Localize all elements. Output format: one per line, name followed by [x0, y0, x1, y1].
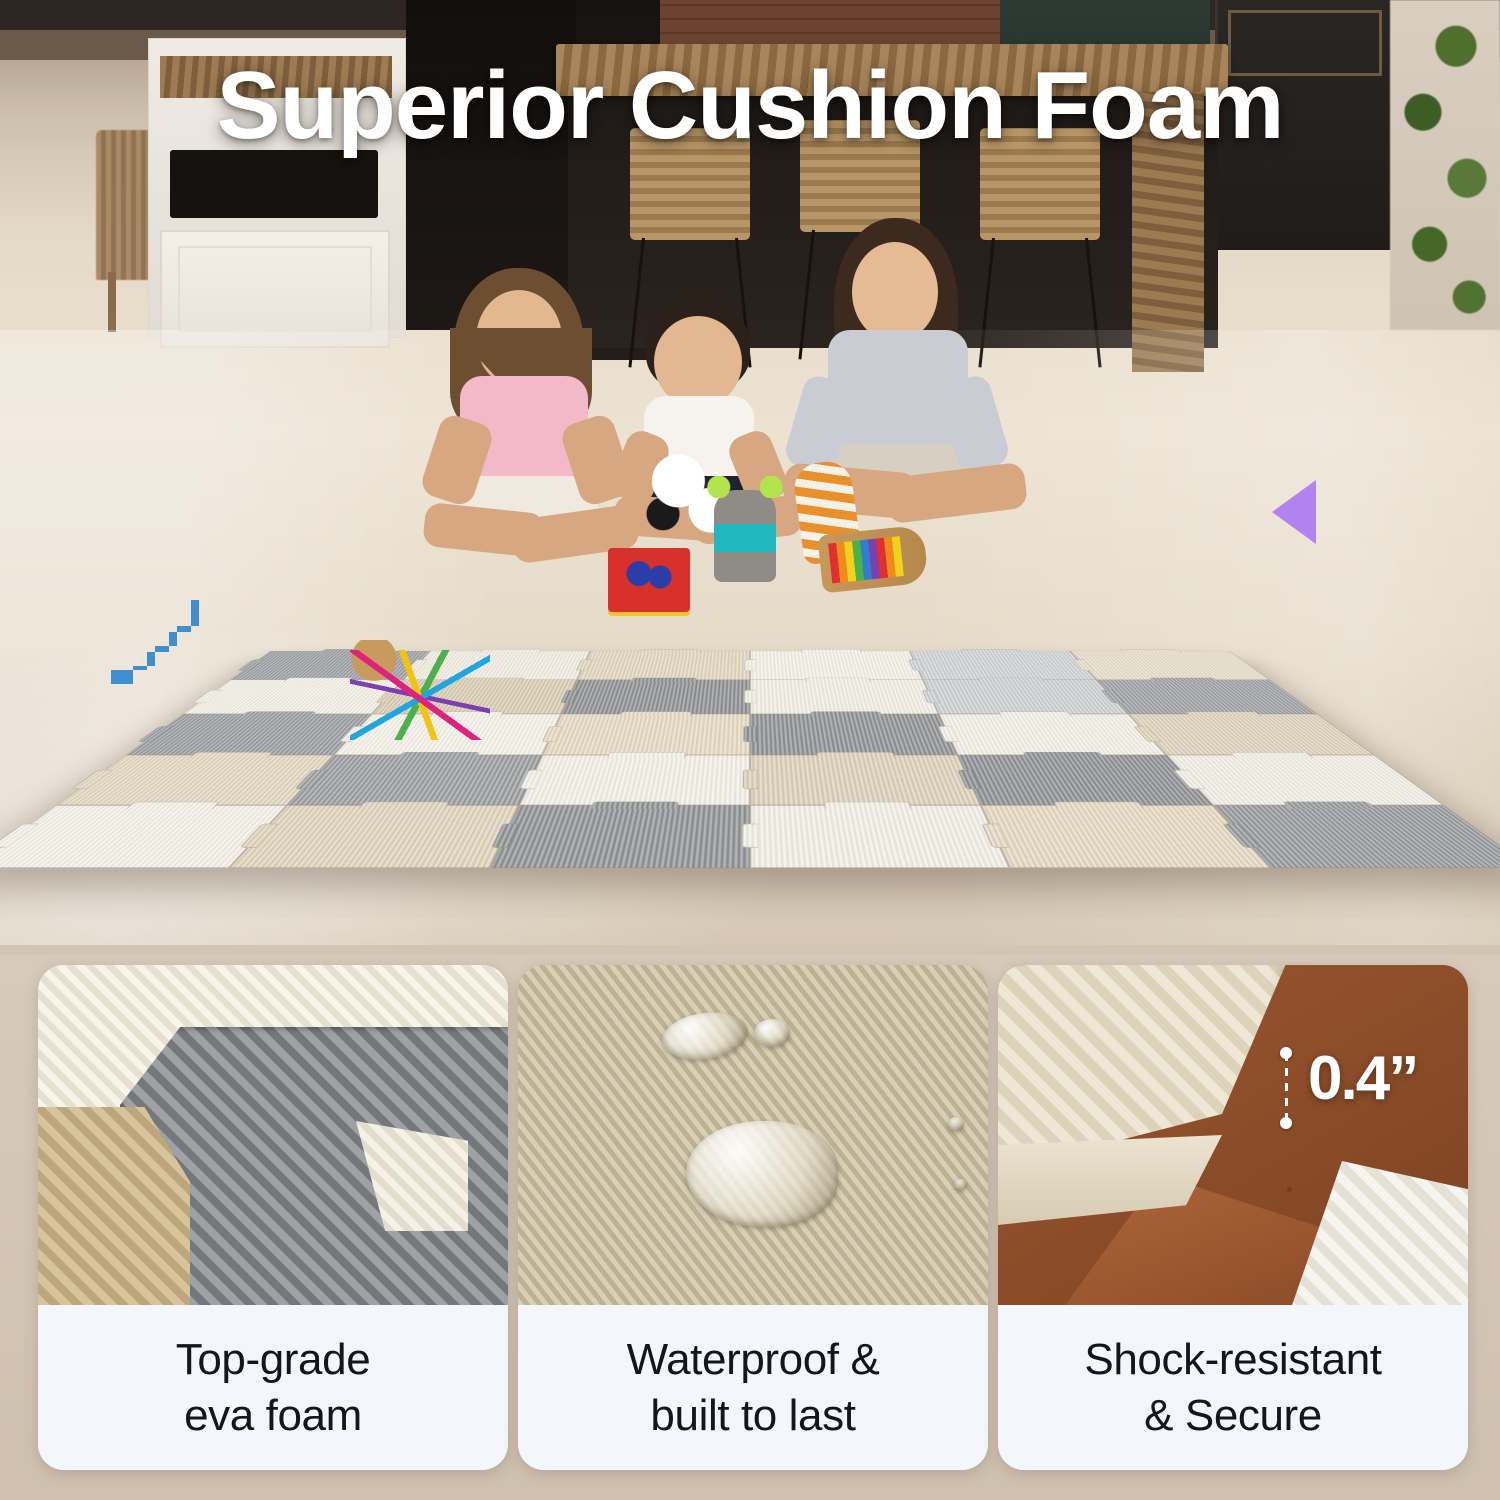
caption-line-1: Top-grade	[176, 1332, 371, 1387]
foam-tile	[1070, 651, 1270, 680]
product-infographic: Superior Cushion Foam Top-grade eva foam	[0, 0, 1500, 1500]
red-board-book	[608, 548, 690, 612]
feature-card-caption: Top-grade eva foam	[38, 1305, 508, 1470]
foam-tile	[750, 714, 958, 755]
caption-line-1: Waterproof &	[627, 1332, 880, 1387]
foam-tile	[750, 680, 939, 714]
caption-line-2: built to last	[650, 1388, 855, 1443]
foam-tile	[577, 651, 750, 680]
foam-tile	[750, 651, 923, 680]
foam-tile	[126, 714, 372, 755]
colorful-ribbon-toy	[350, 650, 490, 740]
caption-line-1: Shock-resistant	[1084, 1332, 1381, 1387]
foam-tile	[923, 680, 1128, 714]
foam-tile	[750, 805, 1010, 868]
hero-lifestyle-photo: Superior Cushion Foam	[0, 0, 1500, 945]
foam-tile	[750, 755, 981, 805]
feature-card-caption: Shock-resistant & Secure	[998, 1305, 1468, 1470]
foam-tile	[287, 755, 541, 805]
foam-tile	[1096, 680, 1317, 714]
foam-tile	[542, 714, 750, 755]
thickness-measure-line	[1280, 1047, 1292, 1129]
moose-rattle-toy	[714, 490, 776, 582]
feature-card-waterproof[interactable]: Waterproof & built to last	[518, 965, 988, 1470]
foam-tile	[490, 805, 750, 868]
foam-tile	[1166, 755, 1444, 805]
headline-title: Superior Cushion Foam	[0, 56, 1500, 156]
foam-tile	[939, 714, 1166, 755]
foam-tile	[1128, 714, 1374, 755]
feature-card-caption: Waterproof & built to last	[518, 1305, 988, 1470]
child-girl-pink-polo	[420, 268, 640, 568]
foam-tile	[910, 651, 1097, 680]
potted-plant-right	[1390, 0, 1500, 330]
feature-cards-row: Top-grade eva foam Waterproof & built to…	[0, 955, 1500, 1500]
thickness-label: 0.4”	[1308, 1043, 1417, 1114]
built-in-oven	[170, 150, 378, 218]
foam-tile	[56, 755, 334, 805]
foam-thickness-photo: 0.4”	[998, 965, 1468, 1305]
purple-triangle-accent	[1272, 480, 1316, 544]
foam-weave-photo	[38, 965, 508, 1305]
water-droplet-photo	[518, 965, 988, 1305]
caption-line-2: & Secure	[1144, 1388, 1322, 1443]
foam-tile	[561, 680, 750, 714]
feature-card-shock-resistant[interactable]: 0.4” Shock-resistant & Secure	[998, 965, 1468, 1470]
caption-line-2: eva foam	[184, 1388, 362, 1443]
feature-card-top-grade-eva-foam[interactable]: Top-grade eva foam	[38, 965, 508, 1470]
blue-zigzag-accent	[103, 596, 215, 688]
foam-tile	[519, 755, 750, 805]
